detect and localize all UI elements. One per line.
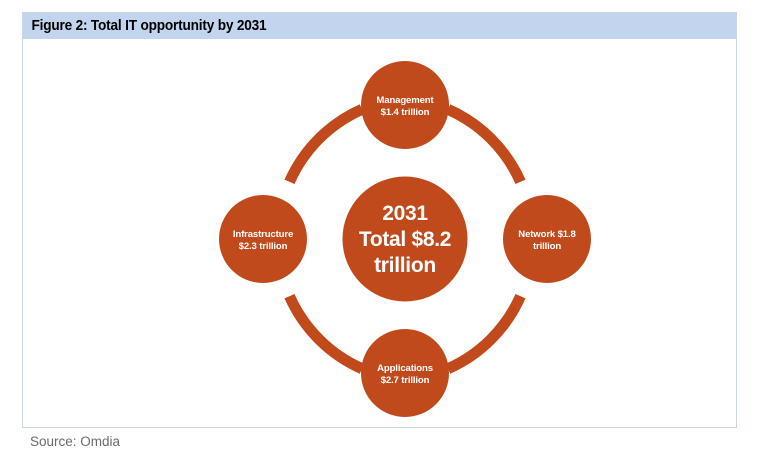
node-management-line2: $1.4 trillion bbox=[381, 107, 430, 118]
ring-arc-top-left bbox=[290, 109, 363, 182]
node-applications[interactable]: Applications $2.7 trillion bbox=[361, 329, 449, 417]
node-network-line2: trillion bbox=[533, 241, 561, 252]
node-infrastructure-line1: Infrastructure bbox=[233, 229, 293, 240]
center-node-line3: trillion bbox=[374, 254, 436, 277]
ring-arc-top-right bbox=[448, 109, 521, 182]
figure-title: Figure 2: Total IT opportunity by 2031 bbox=[23, 18, 266, 34]
center-node-line2: Total $8.2 bbox=[359, 228, 451, 251]
figure-title-bar: Figure 2: Total IT opportunity by 2031 bbox=[23, 13, 736, 39]
node-applications-line1: Applications bbox=[377, 363, 433, 374]
center-node[interactable]: 2031 Total $8.2 trillion bbox=[343, 177, 468, 302]
node-management[interactable]: Management $1.4 trillion bbox=[361, 61, 449, 149]
diagram-canvas: 2031 Total $8.2 trillion Management $1.4… bbox=[23, 39, 736, 427]
figure-container: Figure 2: Total IT opportunity by 2031 2… bbox=[22, 12, 737, 428]
source-label: Source: Omdia bbox=[30, 434, 120, 449]
center-node-line1: 2031 bbox=[382, 202, 428, 225]
node-infrastructure[interactable]: Infrastructure $2.3 trillion bbox=[219, 195, 307, 283]
node-network-line1: Network $1.8 bbox=[518, 229, 576, 240]
node-infrastructure-line2: $2.3 trillion bbox=[239, 241, 288, 252]
node-applications-line2: $2.7 trillion bbox=[381, 375, 430, 386]
node-network[interactable]: Network $1.8 trillion bbox=[503, 195, 591, 283]
node-management-line1: Management bbox=[376, 95, 434, 106]
ring-arc-bottom-left bbox=[290, 296, 363, 369]
ring-arc-bottom-right bbox=[448, 296, 521, 369]
